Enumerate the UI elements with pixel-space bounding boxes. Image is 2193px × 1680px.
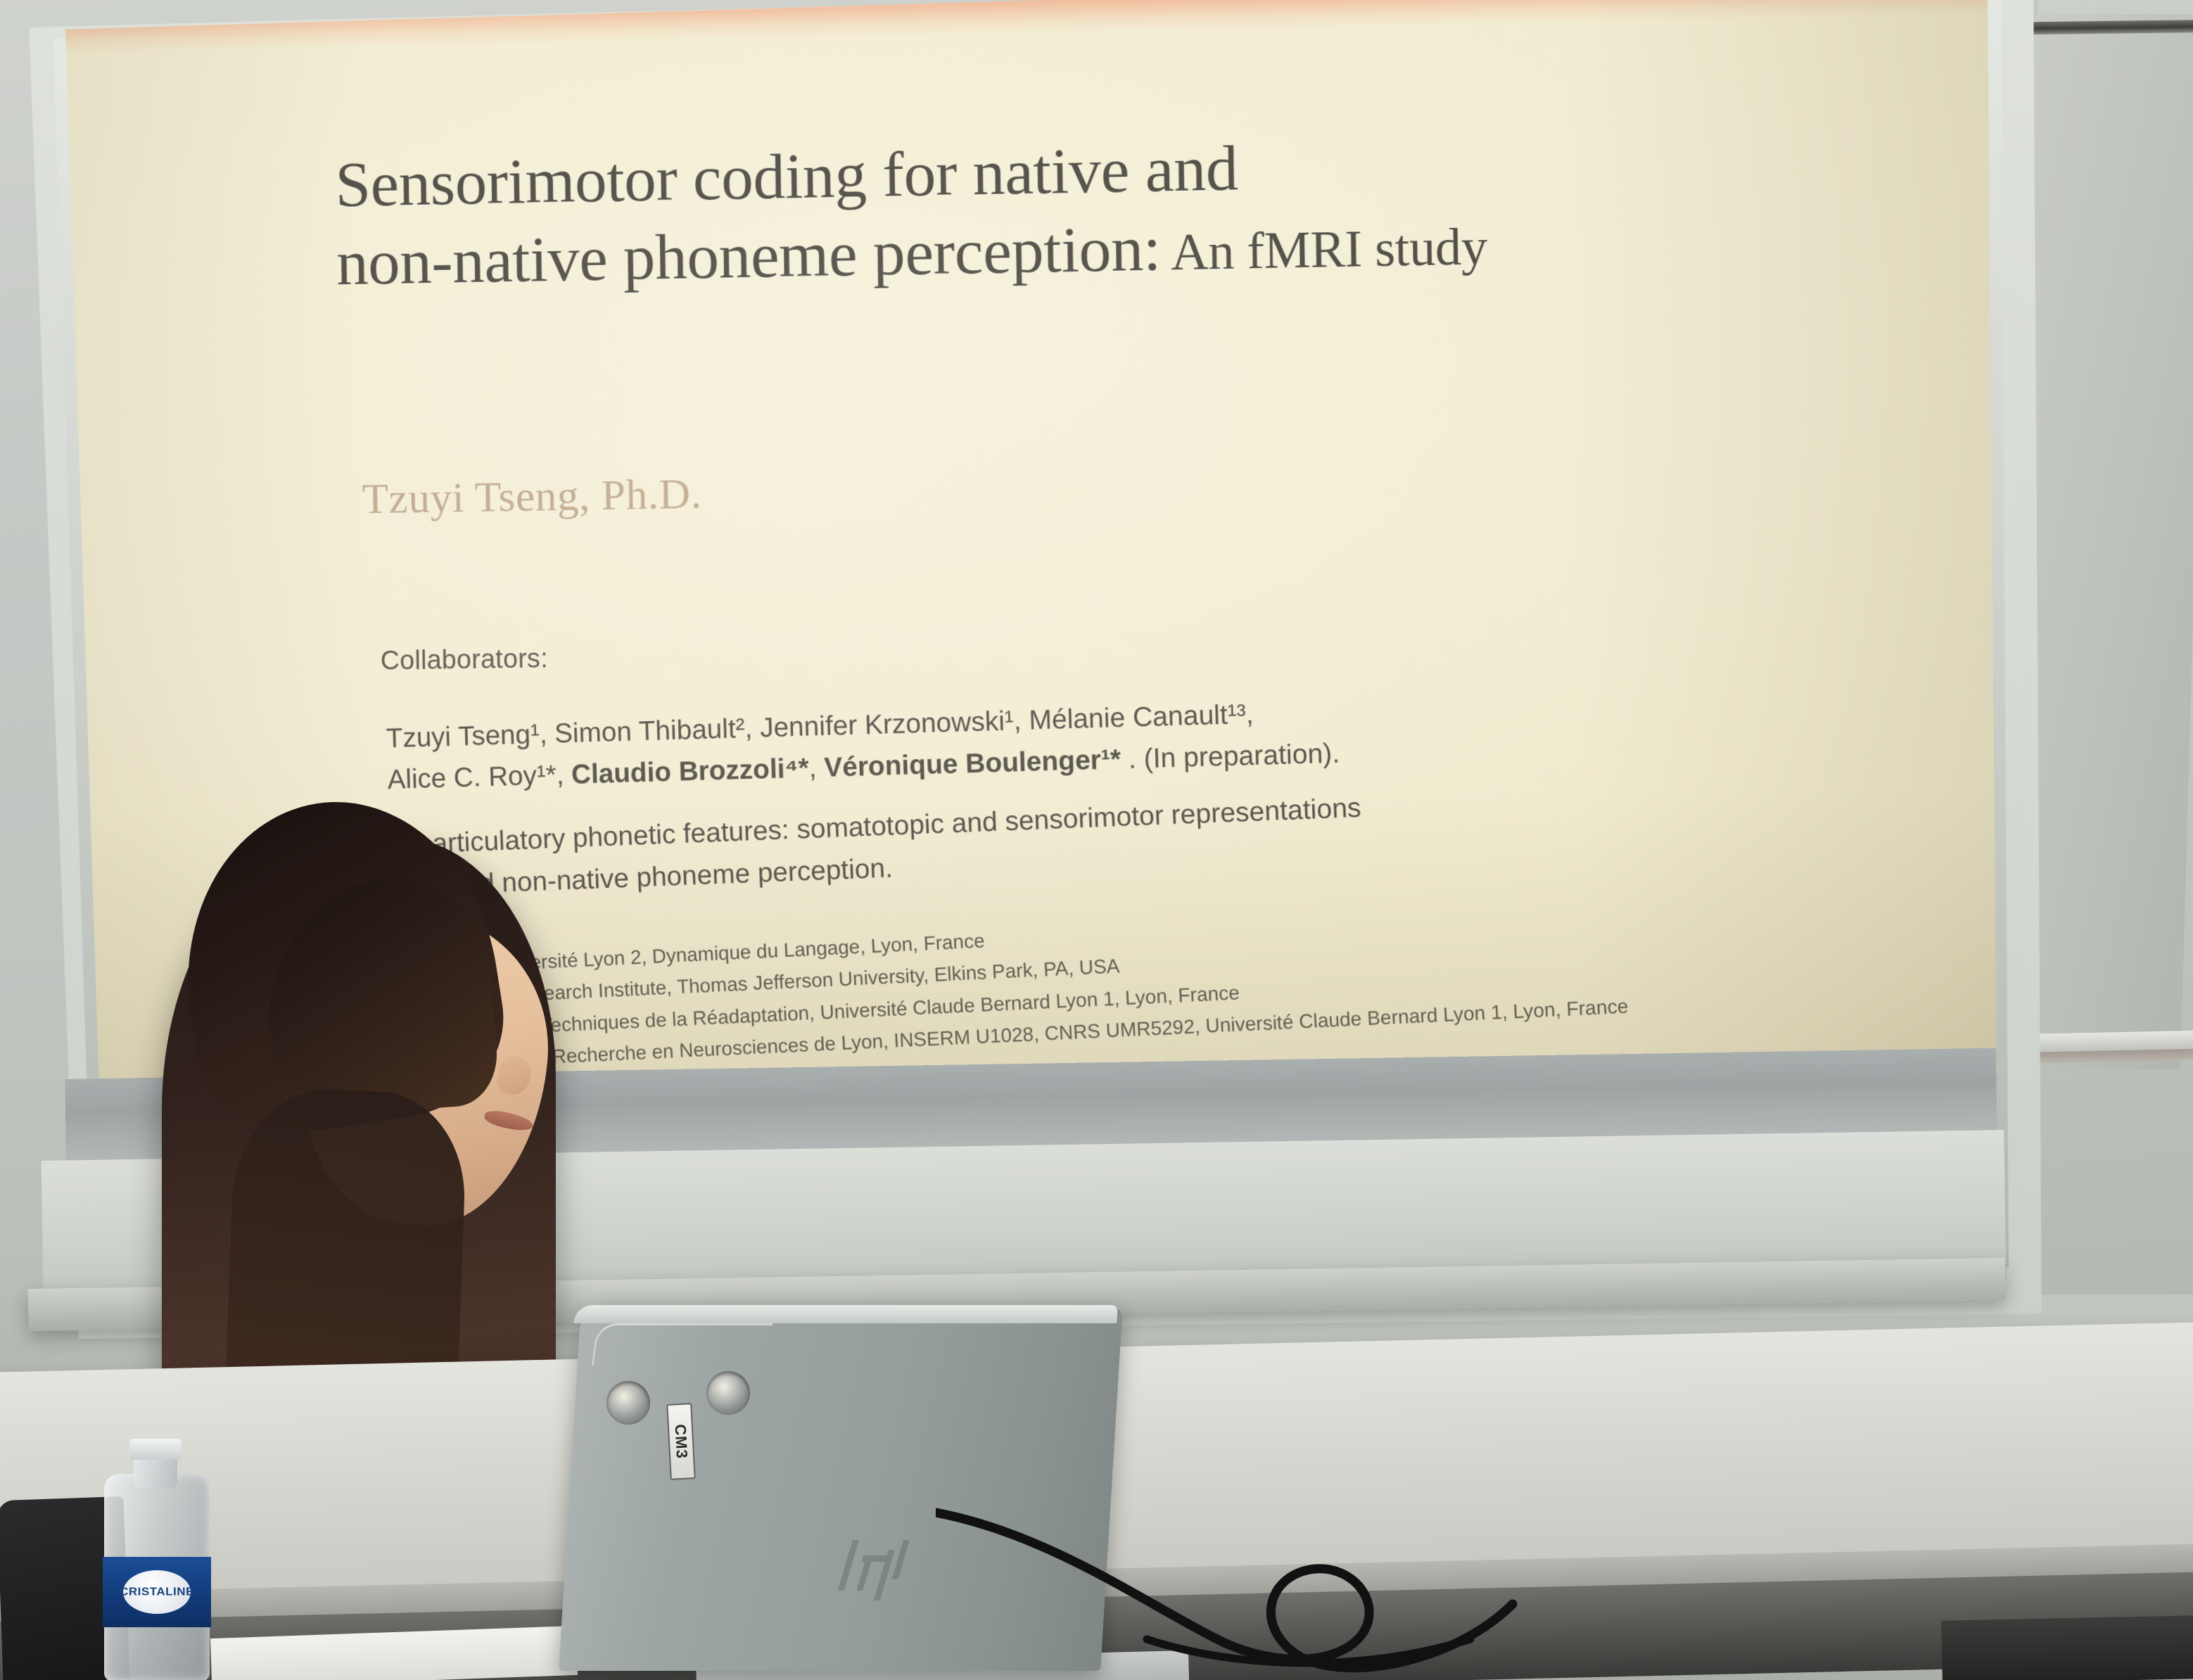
slide-author: Tzuyi Tseng, Ph.D. bbox=[362, 469, 702, 524]
laptop-asset-sticker: CM3 bbox=[666, 1403, 696, 1480]
slide-title: Sensorimotor coding for native and non-n… bbox=[335, 117, 1851, 303]
dark-object-right bbox=[1941, 1615, 2193, 1680]
hp-logo-icon bbox=[839, 1537, 920, 1602]
slide-title-subtitle: An fMRI study bbox=[1160, 218, 1487, 282]
bottle-label: CRISTALINE bbox=[103, 1557, 211, 1627]
laptop-lid-bevel bbox=[592, 1323, 773, 1366]
laptop-hinge-left bbox=[606, 1381, 650, 1425]
water-bottle[interactable]: CRISTALINE bbox=[97, 1446, 217, 1680]
collaborator-bold-2: Véronique Boulenger¹* bbox=[824, 744, 1121, 783]
laptop-hinge-right bbox=[706, 1371, 750, 1415]
bottle-cap bbox=[129, 1439, 182, 1460]
laptop-sticker-text: CM3 bbox=[671, 1424, 692, 1460]
collaborators-label: Collaborators: bbox=[381, 644, 549, 677]
slide-title-line-1: Sensorimotor coding for native and bbox=[335, 132, 1239, 220]
laptop-lid-top-edge bbox=[573, 1305, 1118, 1323]
bottle-brand-text: CRISTALINE bbox=[120, 1586, 194, 1598]
presentation-room-photo: Sensorimotor coding for native and non-n… bbox=[0, 0, 2193, 1680]
bottle-brand-oval: CRISTALINE bbox=[123, 1570, 191, 1614]
collaborator-bold-1: Claudio Brozzoli⁴* bbox=[571, 753, 810, 789]
laptop-cable bbox=[936, 1428, 1569, 1680]
